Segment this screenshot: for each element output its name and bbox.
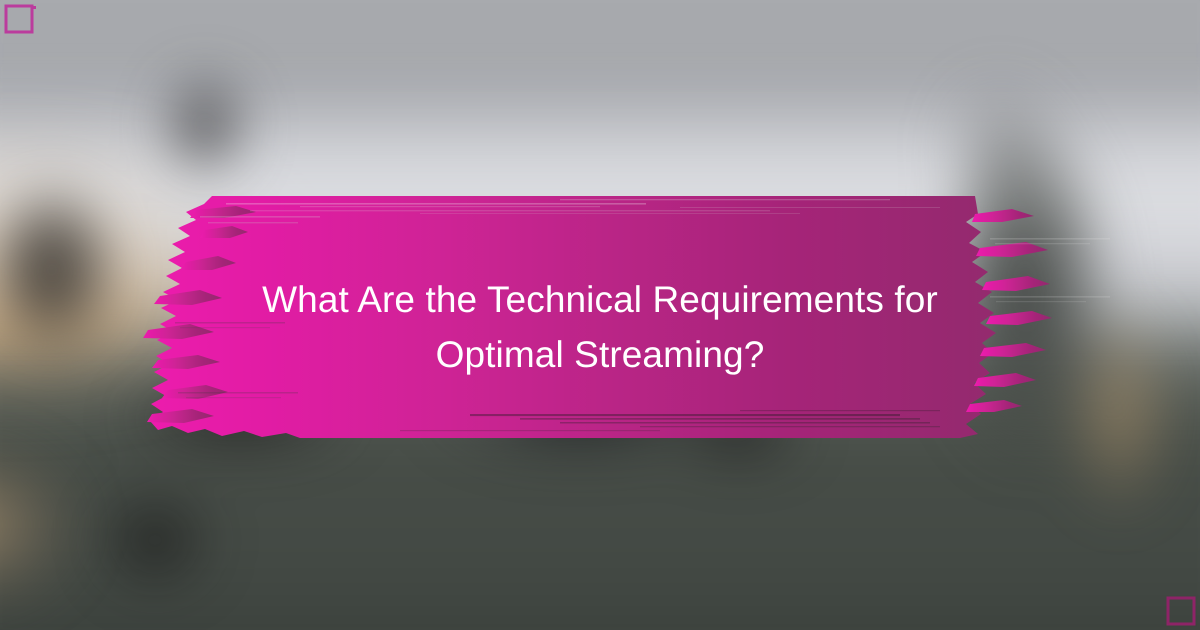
page-title-line-1: What Are the Technical Requirements for	[262, 279, 938, 320]
page-title-line-2: Optimal Streaming?	[436, 334, 765, 375]
share-card: What Are the Technical Requirements for …	[0, 0, 1200, 630]
page-title: What Are the Technical Requirements for …	[200, 272, 1000, 382]
title-block: What Are the Technical Requirements for …	[0, 272, 1200, 382]
